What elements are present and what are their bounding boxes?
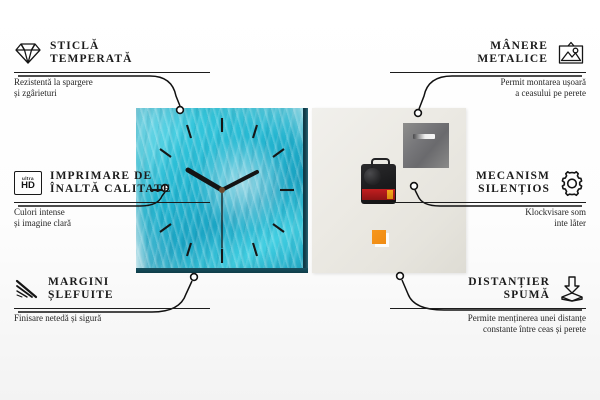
feature-header: MÂNERE METALICE: [390, 38, 586, 68]
feature-header: ultra HD IMPRIMARE DE ÎNALTĂ CALITATE: [14, 168, 210, 198]
feature-subtitle: Klockvisare som inte låter: [390, 207, 586, 229]
feature-polished-edges: MARGINI ȘLEFUITE Finisare netedă și sigu…: [14, 274, 210, 324]
feature-divider: [390, 202, 586, 203]
feature-high-quality-print: ultra HD IMPRIMARE DE ÎNALTĂ CALITATE Cu…: [14, 168, 210, 229]
feature-title: MECANISM SILENȚIOS: [476, 170, 550, 196]
feature-title: MÂNERE METALICE: [477, 40, 548, 66]
feature-header: MECANISM SILENȚIOS: [390, 168, 586, 198]
feature-subtitle: Permit montarea ușoară a ceasului pe per…: [390, 77, 586, 99]
foam-spacer-arrow-icon: [558, 276, 586, 302]
hanger-slot: [413, 134, 435, 139]
glass-edge-bottom: [136, 268, 308, 273]
foam-spacer: [372, 230, 386, 244]
feature-metal-handles: MÂNERE METALICE Permit montarea ușoară a…: [390, 38, 586, 99]
feature-title: IMPRIMARE DE ÎNALTĂ CALITATE: [50, 170, 171, 196]
feature-tempered-glass: STICLĂ TEMPERATĂ Rezistentă la spargere …: [14, 38, 210, 99]
gear-icon: [558, 170, 586, 197]
picture-frame-hanger-icon: [556, 41, 586, 66]
ultra-hd-icon: ultra HD: [14, 171, 42, 195]
feature-divider: [390, 72, 586, 73]
glass-edge-right: [303, 108, 308, 273]
feature-subtitle: Culori intense și imagine clară: [14, 207, 210, 229]
feature-subtitle: Rezistentă la spargere și zgârieturi: [14, 77, 210, 99]
feature-silent-mechanism: MECANISM SILENȚIOS Klockvisare som inte …: [390, 168, 586, 229]
ultra-hd-icon-bottom: HD: [21, 181, 35, 191]
feature-title: MARGINI ȘLEFUITE: [48, 276, 114, 302]
feature-title: STICLĂ TEMPERATĂ: [50, 40, 133, 66]
infographic-canvas: STICLĂ TEMPERATĂ Rezistentă la spargere …: [0, 0, 600, 400]
feature-header: STICLĂ TEMPERATĂ: [14, 38, 210, 68]
feature-foam-spacer: DISTANȚIER SPUMĂ Permite menținerea unei…: [390, 274, 586, 335]
feature-subtitle: Permite menținerea unei distanțe constan…: [390, 313, 586, 335]
feature-divider: [390, 308, 586, 309]
mechanism-dial: [364, 168, 381, 185]
feature-divider: [14, 202, 210, 203]
feature-header: MARGINI ȘLEFUITE: [14, 274, 210, 304]
feature-subtitle: Finisare netedă și sigură: [14, 313, 210, 324]
diamond-icon: [14, 42, 42, 65]
metal-hanger-plate: [403, 123, 449, 168]
feature-divider: [14, 72, 210, 73]
feature-title: DISTANȚIER SPUMĂ: [468, 276, 550, 302]
polished-edges-icon: [14, 278, 40, 300]
feature-divider: [14, 308, 210, 309]
feature-header: DISTANȚIER SPUMĂ: [390, 274, 586, 304]
